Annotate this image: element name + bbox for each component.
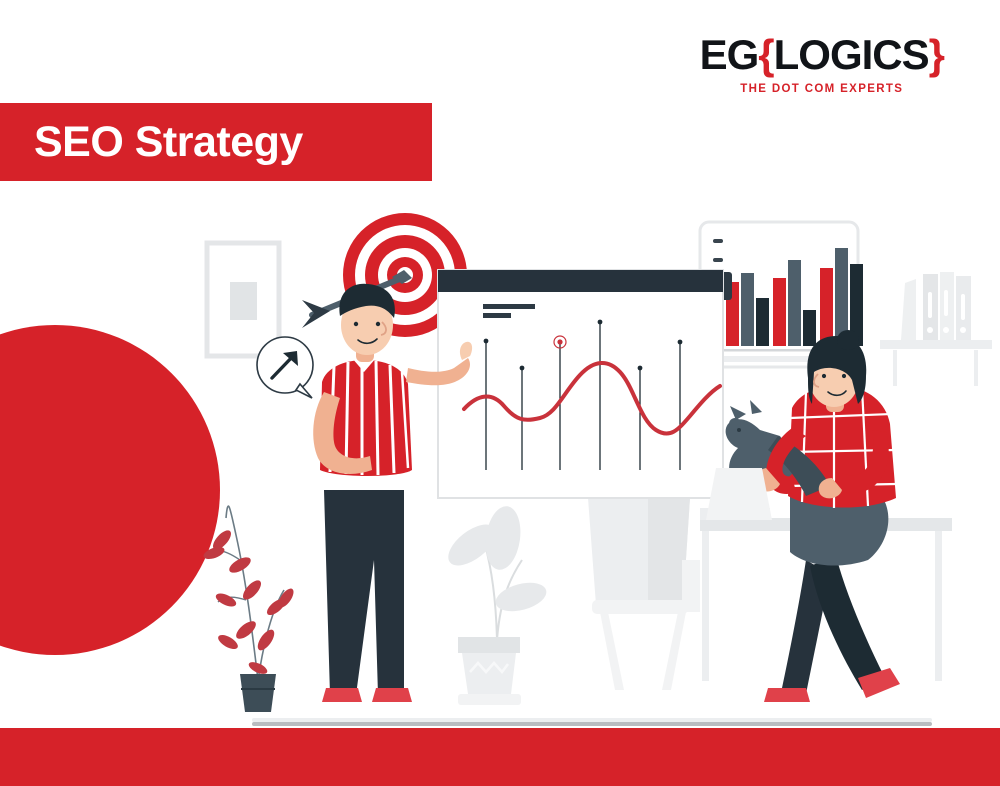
logo-brace-close: } xyxy=(929,31,944,78)
logo-brace-open: { xyxy=(758,31,773,78)
desk-laptop xyxy=(706,468,772,520)
eglogics-logo: EG{LOGICS} THE DOT COM EXPERTS xyxy=(700,34,944,95)
logo-wordmark: EG{LOGICS} xyxy=(700,34,944,76)
logo-eg: EG xyxy=(700,31,759,78)
logo-logics: LOGICS xyxy=(774,31,929,78)
whiteboard-wave-chart xyxy=(438,270,723,498)
woman-hair-bun xyxy=(837,330,859,350)
page-title: SEO Strategy xyxy=(34,121,303,164)
floor-line xyxy=(252,718,932,726)
seo-strategy-banner: SEO Strategy xyxy=(0,103,432,181)
man-shoe-right xyxy=(372,688,412,702)
man-shoe-left xyxy=(322,688,362,702)
woman-shoe-back xyxy=(764,688,810,702)
red-footer-bar xyxy=(0,728,1000,786)
wall-picture-frame xyxy=(207,243,279,356)
logo-tagline: THE DOT COM EXPERTS xyxy=(700,83,944,95)
